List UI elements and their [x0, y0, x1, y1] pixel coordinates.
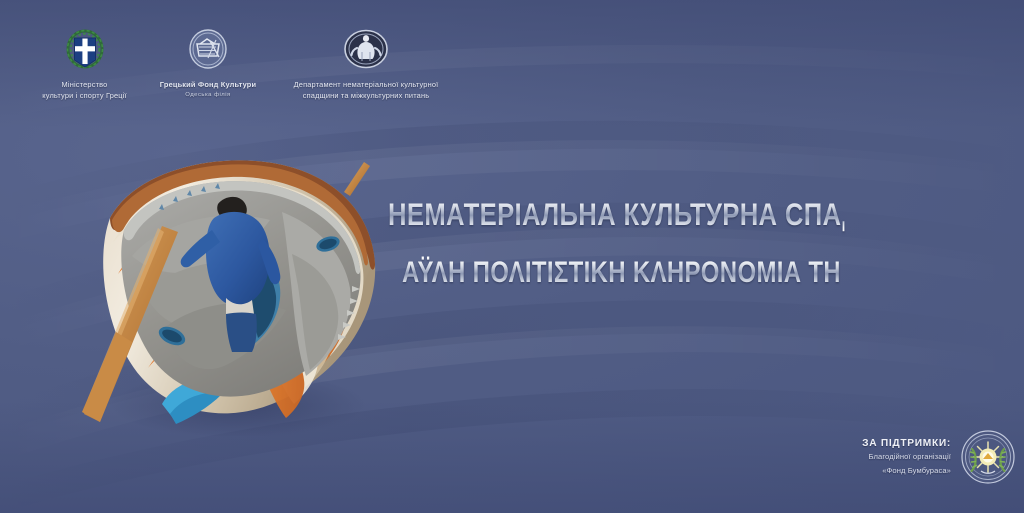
- poster-banner: Міністерство культури і спорту Греції Гр…: [0, 0, 1024, 513]
- logo-fund-caption-line1: Грецький Фонд Культури: [146, 80, 270, 91]
- logo-strip: Міністерство культури і спорту Греції Гр…: [0, 28, 470, 128]
- support-title: ЗА ПІДТРИМКИ:: [862, 438, 951, 449]
- boomburas-foundation-emblem-icon: [960, 429, 1016, 485]
- logo-heritage-department: Департамент нематеріальної культурної сп…: [268, 28, 464, 101]
- logo-ministry-caption-line2: культури і спорту Греції: [22, 91, 147, 102]
- intangible-heritage-department-icon: [342, 28, 390, 70]
- greek-culture-foundation-seal-icon: [186, 28, 230, 70]
- logo-dept-caption-line2: спадщини та міжкультурних питань: [268, 91, 464, 102]
- headline-greek: ΑΫΛΗ ΠΟΛΙΤΙΣΤΙΚΗ ΚΛΗΡΟΝΟΜΙΑ ΤΗΣ ΕΛΛΑΔΑΣ: [402, 256, 839, 290]
- logo-ministry-of-culture: Міністерство культури і спорту Греції: [22, 28, 147, 101]
- support-line-2: «Фонд Бумбураса»: [862, 465, 951, 476]
- logo-greek-culture-foundation: Грецький Фонд Культури Одеська філія: [146, 28, 270, 99]
- headline-block: НЕМАТЕРІАЛЬНА КУЛЬТУРНА СПАДЩИНА ГРЕЦІЇ …: [388, 196, 948, 290]
- logo-ministry-caption-line1: Міністерство: [22, 80, 147, 91]
- support-line-1: Благодійної організації: [862, 451, 951, 462]
- headline-ukrainian: НЕМАТЕРІАЛЬНА КУЛЬТУРНА СПАДЩИНА ГРЕЦІЇ: [388, 196, 844, 233]
- support-text: ЗА ПІДТРИМКИ: Благодійної організації «Ф…: [862, 438, 951, 476]
- support-block: ЗА ПІДТРИМКИ: Благодійної організації «Ф…: [862, 429, 1016, 485]
- wooden-boat-builder-photo: [66, 146, 396, 436]
- logo-dept-caption-line1: Департамент нематеріальної культурної: [268, 80, 464, 91]
- greek-coat-of-arms-icon: [65, 28, 105, 70]
- logo-fund-caption-line2: Одеська філія: [146, 91, 270, 100]
